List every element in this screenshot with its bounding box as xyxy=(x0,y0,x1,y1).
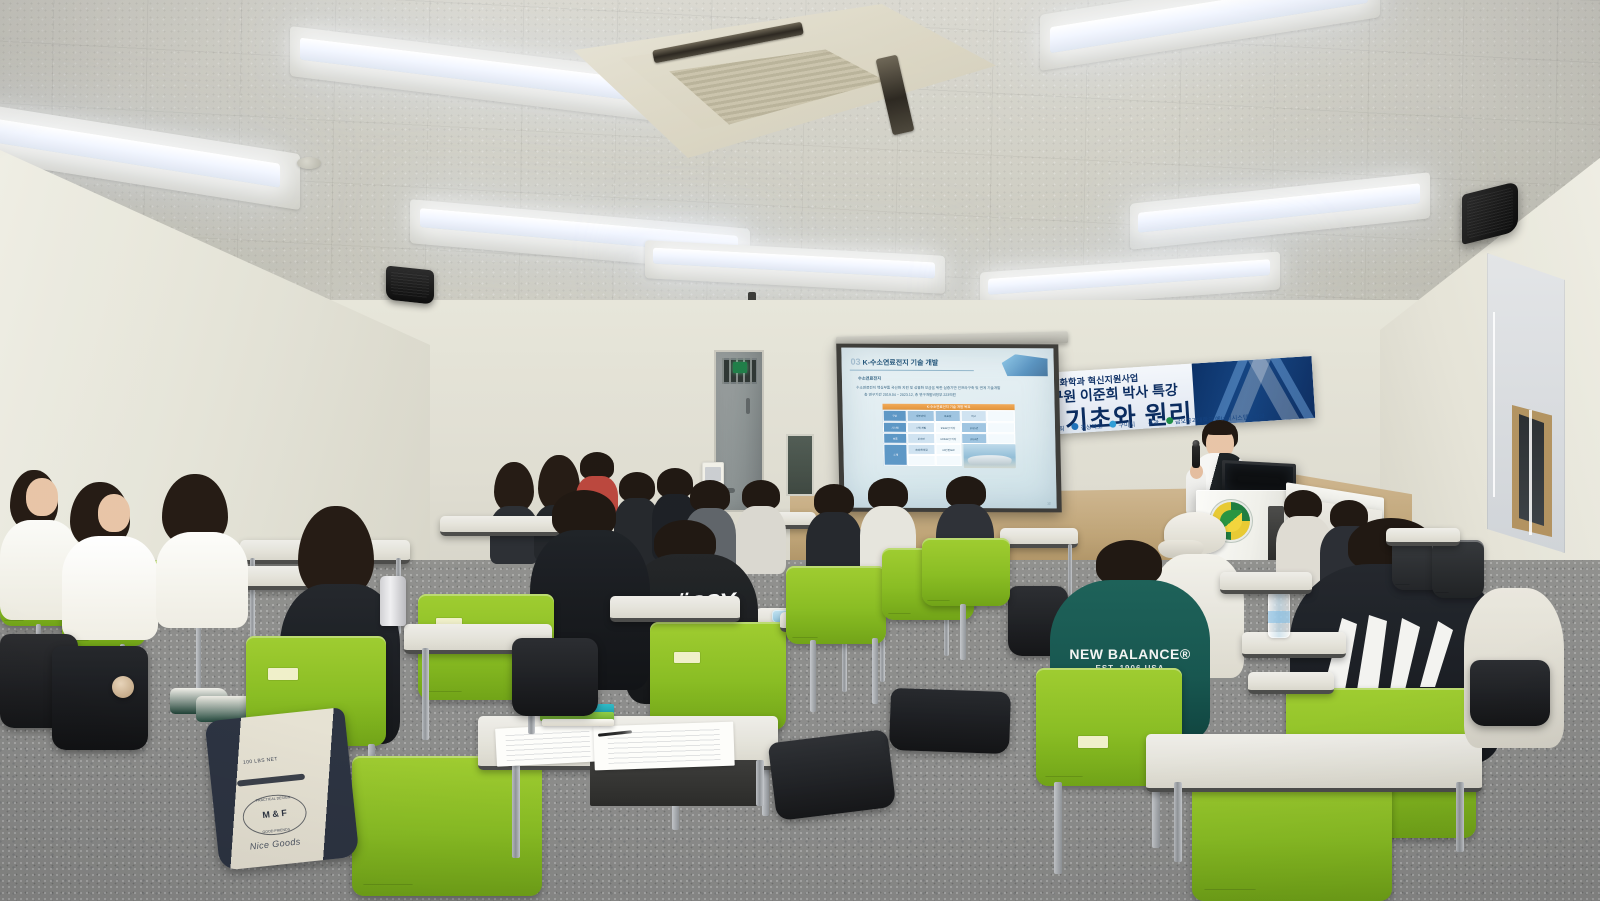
student-torso xyxy=(156,532,248,628)
bag-charm-icon xyxy=(112,676,134,698)
smoke-detector-icon xyxy=(297,157,321,169)
chair-inventory-label xyxy=(268,668,298,680)
chair[interactable] xyxy=(650,622,786,730)
desk xyxy=(610,596,740,618)
student-head xyxy=(26,478,58,516)
backpack xyxy=(889,688,1011,754)
chair-inventory-label xyxy=(674,652,700,663)
door-handle[interactable] xyxy=(746,398,750,414)
chair-inventory-label xyxy=(1078,736,1108,748)
student xyxy=(156,474,248,614)
new-balance-logo-text: NEW BALANCE® xyxy=(1066,646,1194,662)
desk xyxy=(1386,528,1460,542)
slide-title: 03K-수소연료전지 기술 개발 xyxy=(850,357,938,368)
desk-leg xyxy=(756,760,764,806)
desk-surface xyxy=(1220,572,1312,594)
table-cell xyxy=(987,422,1015,433)
slide-title-rule xyxy=(850,370,974,371)
exit-sign-icon xyxy=(733,362,747,373)
student xyxy=(62,482,158,632)
sponsor-left-2: 구미시 xyxy=(1109,419,1135,430)
table-cell: 100kW급 이상 xyxy=(935,433,961,444)
desk xyxy=(1248,672,1334,690)
desk-surface xyxy=(1146,734,1482,792)
table-cell: 60만원/kW xyxy=(935,444,961,455)
steel-tumbler xyxy=(380,576,406,626)
slide-bullet-1: 수소연료전지 핵심부품 국산화 지원 및 상용화 보급을 위한 실증기반 인프라… xyxy=(856,386,1000,391)
table-cell xyxy=(908,455,936,466)
table-cell: 목표값 xyxy=(935,410,961,422)
table-cell: 스택 개발 xyxy=(907,422,935,433)
worksheet-lines xyxy=(506,729,591,761)
chair-backrest[interactable] xyxy=(922,538,1010,606)
backpack xyxy=(768,729,897,821)
chair-backrest[interactable] xyxy=(786,566,886,644)
student-hair xyxy=(494,462,534,512)
table-cell: 분리판 xyxy=(907,433,935,444)
slide-subtitle: 수소연료전지 xyxy=(858,376,881,381)
gumi-logo-icon xyxy=(1109,420,1116,427)
canvas-bag-stamp-bottom: GOOD FRIENDS xyxy=(244,825,308,836)
slide-title-text: K-수소연료전지 기술 개발 xyxy=(863,360,939,367)
water-bottle xyxy=(1268,592,1290,638)
chair-backrest[interactable] xyxy=(650,622,786,730)
gyeongbuk-logo-icon xyxy=(1071,423,1078,430)
canvas-backpack: 100 LBS NET PRACTICAL DESIGN M & F GOOD … xyxy=(205,707,360,871)
slide-decoration xyxy=(1001,354,1047,376)
bag-zipper xyxy=(237,774,305,787)
chair-leg xyxy=(1152,784,1160,848)
desk-surface xyxy=(1242,632,1346,658)
table-cell: 비고 xyxy=(961,410,987,422)
handbag xyxy=(52,646,148,750)
table-cell: 2024년 xyxy=(961,433,987,444)
desk-surface xyxy=(1386,528,1460,546)
table-cell: 부품 xyxy=(883,433,907,444)
speaker-grille xyxy=(1467,187,1513,238)
slide-photo-thumbnail xyxy=(963,444,1016,468)
backpack xyxy=(1470,660,1550,726)
table-cell: 촉매/전해질 xyxy=(907,444,935,455)
table-cell: 소재 xyxy=(883,444,907,466)
blind-cord[interactable] xyxy=(1493,312,1495,497)
desk xyxy=(1242,632,1346,654)
table-cell: 95kW급 이상 xyxy=(935,422,961,433)
sponsor-prefix-right: 주관 xyxy=(1148,418,1160,428)
chair-leg xyxy=(810,640,816,712)
desk xyxy=(1146,734,1482,788)
table-cell: 구분 xyxy=(883,410,907,422)
desk-leg xyxy=(1456,782,1464,852)
chair[interactable] xyxy=(922,538,1010,606)
chair-leg xyxy=(1054,782,1062,874)
worksheet xyxy=(593,722,734,771)
table-cell: 세부과제 xyxy=(907,410,935,422)
backpack xyxy=(512,638,598,716)
table-cell xyxy=(987,410,1015,422)
speaker-grille xyxy=(391,270,429,298)
slide-section-number: 03 xyxy=(850,357,860,367)
worksheet xyxy=(495,723,601,766)
canvas-bag-script: Nice Goods xyxy=(249,836,301,851)
student-head xyxy=(98,494,130,532)
presenter-fringe xyxy=(1204,422,1236,435)
classroom-photo: 특성화학과 혁신지원사업 연구원 이준희 박사 특강 의 기초와 원리 주최 경… xyxy=(0,0,1600,901)
table-cell: 시스템 xyxy=(883,422,907,433)
canvas-bag-stamp: PRACTICAL DESIGN M & F GOOD FRIENDS xyxy=(241,792,309,838)
desk-surface xyxy=(1248,672,1334,694)
chair-leg xyxy=(960,604,966,660)
chair[interactable] xyxy=(786,566,886,644)
desk xyxy=(1220,572,1312,590)
desk-leg xyxy=(512,758,520,858)
desk-surface xyxy=(610,596,740,622)
chair-leg xyxy=(872,638,878,704)
student-torso xyxy=(62,536,158,640)
kumoh-logo-icon xyxy=(1166,417,1173,424)
notebook-stack xyxy=(542,719,614,726)
blind-pull-cord[interactable] xyxy=(1529,410,1532,535)
desk-leg xyxy=(422,648,429,740)
table-cell xyxy=(987,433,1015,444)
canvas-bag-stamp-top: PRACTICAL DESIGN xyxy=(241,794,305,805)
canvas-bag-text: 100 LBS NET xyxy=(243,756,278,766)
wall-speaker xyxy=(386,265,434,304)
table-cell: 2025년 xyxy=(961,422,987,433)
table-cell xyxy=(936,455,962,466)
slide-page-number: 12 xyxy=(1047,501,1050,505)
canvas-bag-stamp-center: M & F xyxy=(242,806,307,823)
slide-bullet-2: 총 연구기간 2019.04 ~ 2023.12, 총 연구개발비정부 223억… xyxy=(864,393,956,398)
microphone[interactable] xyxy=(1192,444,1200,468)
bottle-label xyxy=(1268,611,1290,623)
desk-leg xyxy=(1174,782,1182,862)
